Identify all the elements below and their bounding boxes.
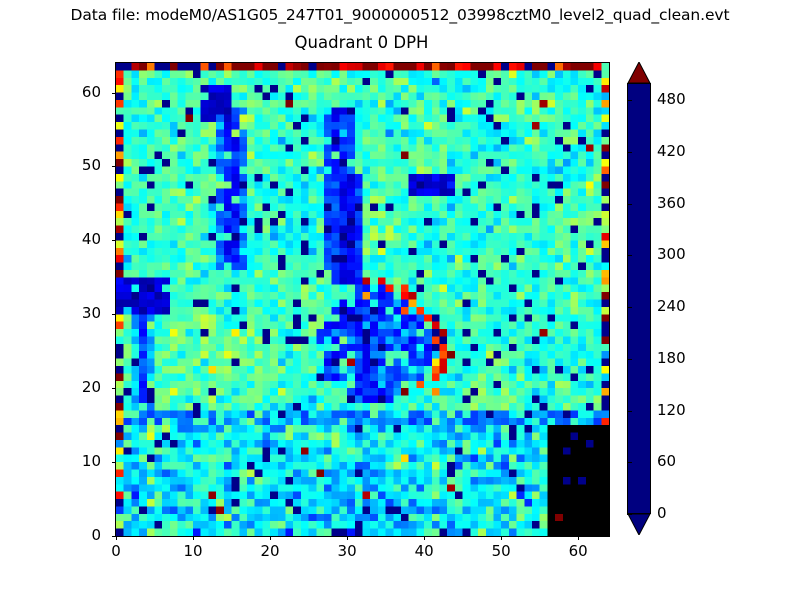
y-tick-label: 40: [41, 231, 101, 248]
y-tick-mark: [112, 240, 116, 241]
colorbar-tick-label: 360: [657, 195, 686, 212]
x-tick-mark: [578, 536, 579, 540]
x-tick-mark: [347, 536, 348, 540]
y-tick-label: 10: [41, 453, 101, 470]
colorbar-tick-label: 420: [657, 143, 686, 160]
colorbar-tick-label: 480: [657, 91, 686, 108]
colorbar[interactable]: 060120180240300360420480: [627, 62, 651, 535]
y-tick-label: 20: [41, 379, 101, 396]
axes-title: Quadrant 0 DPH: [115, 33, 608, 53]
colorbar-under-arrow: [627, 513, 651, 535]
colorbar-tick-mark: [627, 100, 632, 101]
y-tick-label: 50: [41, 157, 101, 174]
y-tick-mark: [112, 314, 116, 315]
colorbar-tick-label: 0: [657, 505, 667, 522]
heatmap-axes[interactable]: [115, 62, 610, 537]
colorbar-tick-mark: [627, 204, 632, 205]
x-tick-mark: [424, 536, 425, 540]
x-tick-mark: [270, 536, 271, 540]
x-tick-label: 60: [548, 543, 608, 560]
x-tick-label: 40: [394, 543, 454, 560]
x-tick-mark: [116, 536, 117, 540]
colorbar-tick-label: 120: [657, 402, 686, 419]
x-tick-label: 50: [471, 543, 531, 560]
x-tick-label: 0: [86, 543, 146, 560]
colorbar-tick-label: 300: [657, 246, 686, 263]
heatmap-image[interactable]: [116, 63, 609, 536]
colorbar-tick-mark: [627, 152, 632, 153]
figure-suptitle: Data file: modeM0/AS1G05_247T01_90000005…: [0, 6, 800, 25]
x-tick-label: 10: [163, 543, 223, 560]
x-tick-label: 30: [317, 543, 377, 560]
colorbar-tick-mark: [627, 255, 632, 256]
x-tick-mark: [501, 536, 502, 540]
colorbar-gradient[interactable]: [627, 83, 651, 514]
y-tick-label: 60: [41, 84, 101, 101]
colorbar-over-arrow: [627, 62, 651, 84]
y-tick-label: 0: [41, 527, 101, 544]
colorbar-tick-mark: [627, 411, 632, 412]
colorbar-tick-mark: [627, 514, 632, 515]
y-tick-mark: [112, 166, 116, 167]
x-tick-mark: [193, 536, 194, 540]
colorbar-tick-mark: [627, 462, 632, 463]
y-tick-mark: [112, 462, 116, 463]
colorbar-tick-label: 240: [657, 298, 686, 315]
y-tick-label: 30: [41, 305, 101, 322]
x-tick-label: 20: [240, 543, 300, 560]
colorbar-tick-label: 60: [657, 453, 676, 470]
y-tick-mark: [112, 93, 116, 94]
figure-canvas: Data file: modeM0/AS1G05_247T01_90000005…: [0, 0, 800, 600]
colorbar-tick-mark: [627, 359, 632, 360]
colorbar-tick-label: 180: [657, 350, 686, 367]
y-tick-mark: [112, 388, 116, 389]
y-tick-mark: [112, 536, 116, 537]
colorbar-tick-mark: [627, 307, 632, 308]
